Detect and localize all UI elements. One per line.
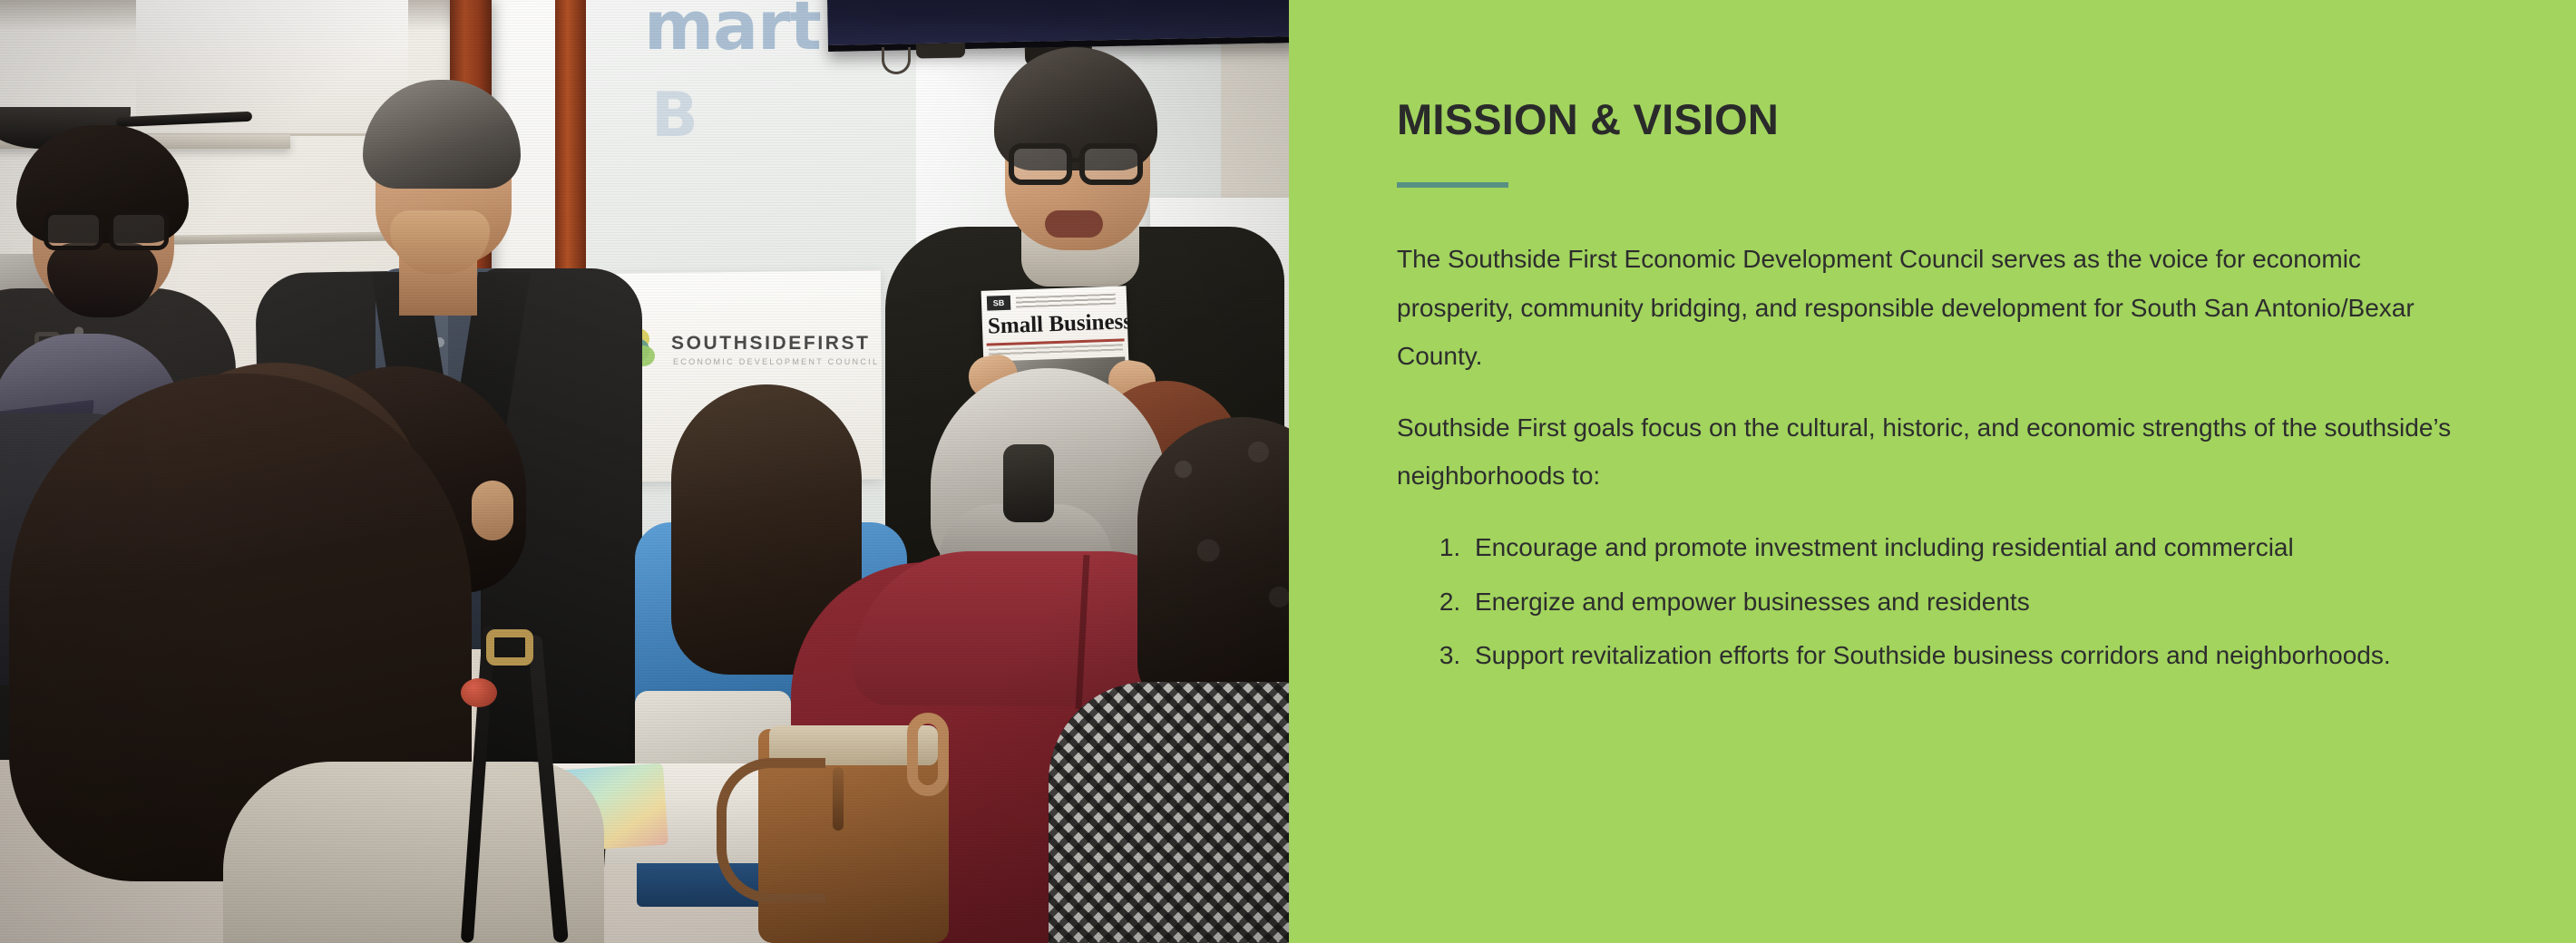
list-item: Energize and empower businesses and resi… bbox=[1468, 578, 2472, 626]
meeting-photo: mart B SOUTHSIDEFIR bbox=[0, 0, 1289, 943]
eyeglasses-bridge bbox=[1072, 158, 1085, 162]
wall-television bbox=[826, 0, 1289, 52]
goals-intro-paragraph: Southside First goals focus on the cultu… bbox=[1397, 403, 2472, 500]
tote-bag-handle bbox=[717, 758, 825, 903]
mission-vision-section: mart B SOUTHSIDEFIR bbox=[0, 0, 2576, 943]
wall-sign-text-lower: B bbox=[651, 80, 923, 180]
attendee-curly-texture bbox=[1137, 417, 1289, 707]
eyeglasses-icon bbox=[109, 210, 169, 250]
list-item: Encourage and promote investment includi… bbox=[1468, 523, 2472, 571]
eyeglasses-icon bbox=[1079, 143, 1143, 185]
attendee-ear bbox=[472, 481, 513, 540]
banner-subtitle: ECONOMIC DEVELOPMENT COUNCIL bbox=[673, 357, 891, 366]
newspaper-title: Small Business bbox=[988, 309, 1125, 339]
eyeglasses-icon bbox=[1009, 143, 1072, 185]
newspaper-subhead-lines bbox=[989, 344, 1123, 356]
purse-charm bbox=[461, 678, 497, 707]
newspaper-dek-lines bbox=[1016, 294, 1116, 308]
photo-stage: mart B SOUTHSIDEFIR bbox=[0, 0, 1289, 943]
page-title: MISSION & VISION bbox=[1397, 94, 2472, 144]
list-item: Support revitalization efforts for South… bbox=[1468, 631, 2472, 679]
purse-hardware-ring bbox=[486, 629, 533, 666]
banner-title: SOUTHSIDEFIRST bbox=[671, 333, 880, 355]
person-speaker-mouth bbox=[1045, 210, 1103, 238]
goals-list: Encourage and promote investment includi… bbox=[1397, 523, 2472, 679]
hair-clip bbox=[1003, 444, 1054, 522]
text-container: MISSION & VISION The Southside First Eco… bbox=[1397, 0, 2472, 685]
newspaper-masthead: SB bbox=[987, 296, 1011, 311]
mission-vision-panel: MISSION & VISION The Southside First Eco… bbox=[1289, 0, 2576, 943]
eyeglasses-bridge bbox=[102, 225, 112, 229]
body-copy: The Southside First Economic Development… bbox=[1397, 235, 2472, 679]
tote-bag-strap-ring bbox=[907, 713, 949, 796]
tote-bag-tassel bbox=[833, 767, 844, 831]
attendee-houndstooth-sweater bbox=[1049, 682, 1289, 943]
tv-mount-left bbox=[916, 44, 965, 59]
eyeglasses-icon bbox=[44, 210, 103, 250]
title-divider bbox=[1397, 182, 1508, 188]
mission-paragraph: The Southside First Economic Development… bbox=[1397, 235, 2472, 380]
